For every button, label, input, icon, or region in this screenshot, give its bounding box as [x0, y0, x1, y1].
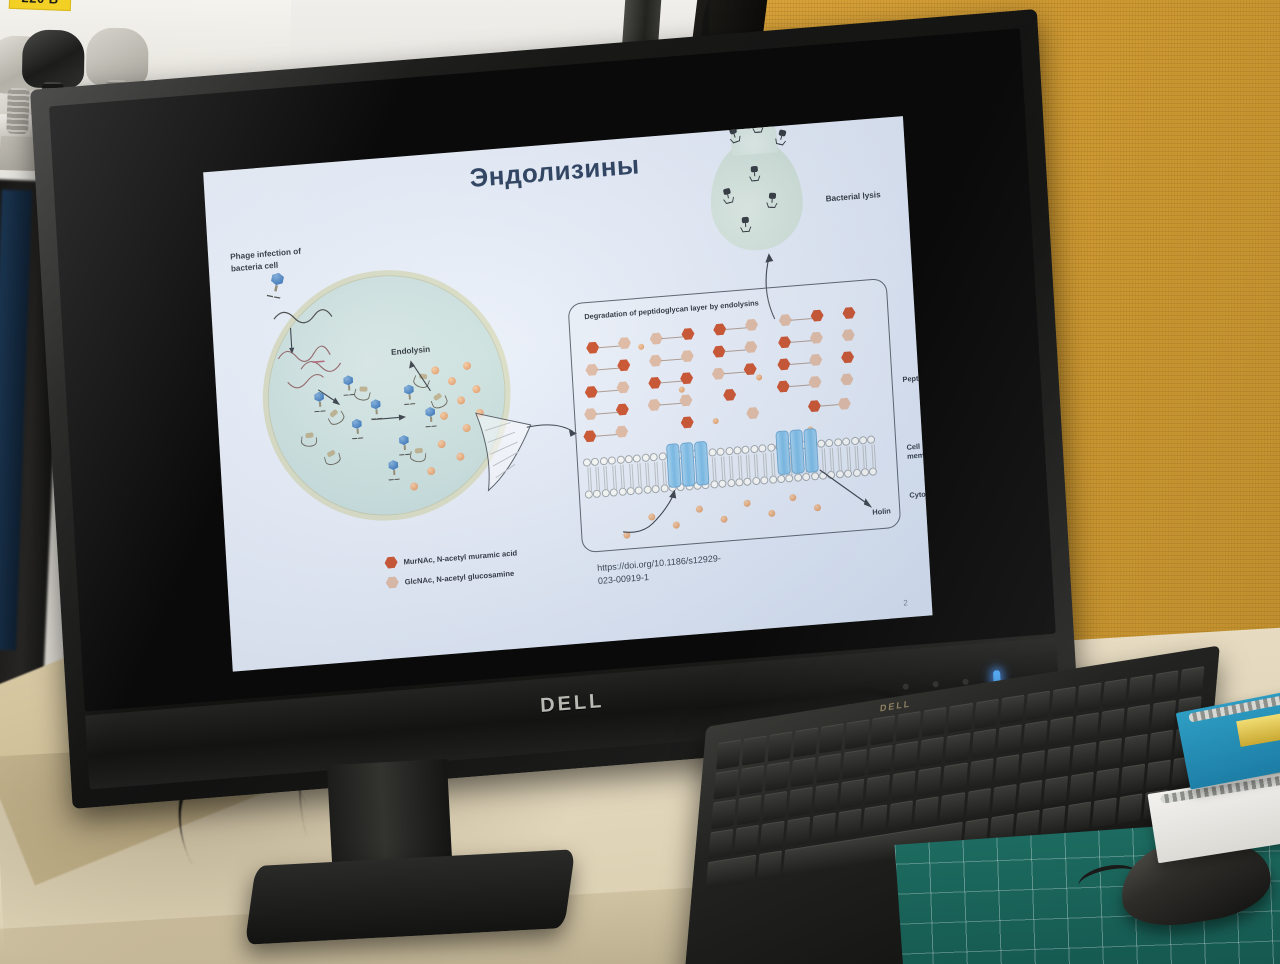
key: [760, 821, 785, 851]
legend-swatch-glcnac: [385, 576, 399, 589]
key: [1123, 734, 1148, 764]
key: [1025, 691, 1050, 721]
key: [785, 817, 810, 847]
key: [708, 829, 733, 859]
key: [791, 757, 816, 787]
key: [991, 784, 1016, 814]
phage-infecting-icon: [266, 271, 287, 296]
key: [1092, 797, 1117, 827]
key: [716, 739, 741, 769]
key: [765, 761, 790, 791]
key: [917, 766, 942, 796]
key: [891, 771, 916, 801]
key: [757, 850, 782, 880]
key: [706, 855, 757, 889]
monitor-brand-logo: DELL: [540, 690, 605, 718]
key: [737, 795, 762, 825]
holin-channel: [680, 442, 696, 487]
key: [971, 729, 996, 759]
holin-flow-arrow: [615, 486, 697, 538]
key: [914, 796, 939, 826]
key: [940, 792, 965, 822]
key: [1094, 768, 1119, 798]
key: [1148, 730, 1173, 760]
key: [842, 749, 867, 779]
key: [1097, 738, 1122, 768]
key: [840, 779, 865, 809]
legend-label-murnac: MurNAc, N-acetyl muramic acid: [403, 548, 517, 566]
endolysin-icon: [353, 385, 371, 401]
phage-icon: [341, 375, 355, 394]
key: [973, 699, 998, 729]
key: [863, 804, 888, 834]
key: [948, 703, 973, 733]
key: [919, 737, 944, 767]
key: [1066, 802, 1091, 832]
key: [1076, 682, 1101, 712]
key: [894, 741, 919, 771]
key: [1117, 793, 1142, 823]
key: [1151, 700, 1176, 730]
legend-item-glcnac: GlcNAc, N-acetyl glucosamine: [385, 567, 514, 589]
holin-channel: [666, 443, 682, 488]
key: [1146, 760, 1171, 790]
osd-button[interactable]: [903, 683, 909, 689]
phage-released-icon: [767, 193, 777, 208]
phage-icon: [397, 435, 411, 454]
key: [1154, 670, 1179, 700]
legend-item-murnac: MurNAc, N-acetyl muramic acid: [384, 546, 517, 569]
endolysin-icon: [301, 432, 317, 446]
holin-channel: [775, 430, 791, 475]
phage-icon: [387, 460, 401, 479]
key: [1017, 780, 1042, 810]
key: [1051, 687, 1076, 717]
keyboard-brand-logo: DELL: [880, 698, 912, 713]
key: [1074, 712, 1099, 742]
key: [1048, 716, 1073, 746]
dell-monitor[interactable]: Эндолизины Phage infection of bacteria c…: [30, 9, 1079, 809]
phage-released-icon: [741, 217, 751, 232]
label-phage-infection-line1: Phage infection of: [230, 247, 301, 263]
key: [1120, 764, 1145, 794]
office-photo-scene: 220 В Эндолизины Phage infection of bact…: [0, 0, 1280, 964]
key: [793, 727, 818, 757]
osd-button[interactable]: [932, 681, 938, 687]
phage-icon: [312, 391, 326, 410]
key: [888, 800, 913, 830]
phage-icon: [369, 399, 383, 418]
key: [734, 825, 759, 855]
key: [1043, 776, 1068, 806]
key: [999, 695, 1024, 725]
key: [1069, 772, 1094, 802]
key: [739, 765, 764, 795]
key: [819, 723, 844, 753]
holin-channel: [789, 429, 805, 474]
key: [711, 799, 736, 829]
key: [865, 775, 890, 805]
key: [1040, 806, 1065, 836]
plug-head: [86, 27, 149, 86]
key: [868, 745, 893, 775]
key: [1045, 746, 1070, 776]
legend-label-glcnac: GlcNAc, N-acetyl glucosamine: [404, 568, 514, 586]
key: [994, 754, 1019, 784]
key: [1071, 742, 1096, 772]
key: [742, 735, 767, 765]
key: [762, 791, 787, 821]
key: [1102, 678, 1127, 708]
key: [1125, 704, 1150, 734]
endolysin-pointer-arrow: [401, 356, 443, 399]
endolysin-icon: [409, 447, 426, 462]
phage-icon: [423, 406, 437, 425]
phage-icon: [350, 418, 364, 437]
key: [837, 808, 862, 838]
osd-button[interactable]: [962, 679, 968, 685]
key: [768, 731, 793, 761]
voltage-label: 220 В: [9, 0, 72, 11]
key: [1099, 708, 1124, 738]
key: [713, 769, 738, 799]
key: [870, 715, 895, 745]
slide-page-number: 2: [903, 598, 908, 607]
key: [942, 762, 967, 792]
key: [945, 733, 970, 763]
key: [966, 788, 991, 818]
key: [1022, 720, 1047, 750]
key: [845, 719, 870, 749]
holin-channel: [803, 428, 819, 473]
plug-head: [22, 29, 85, 88]
doi-reference-link[interactable]: https://doi.org/10.1186/s12929-023-00919…: [597, 551, 738, 588]
label-bacterial-lysis: Bacterial lysis: [825, 190, 881, 205]
key: [896, 711, 921, 741]
label-holin: Holin: [872, 506, 891, 517]
key: [788, 787, 813, 817]
holin-channel: [694, 441, 710, 486]
legend-swatch-murnac: [384, 556, 398, 569]
key: [997, 724, 1022, 754]
key: [1020, 750, 1045, 780]
phage-released-icon: [750, 166, 760, 181]
key: [922, 707, 947, 737]
key: [814, 783, 839, 813]
key: [1128, 674, 1153, 704]
key: [811, 813, 836, 843]
key: [968, 758, 993, 788]
monitor-screen[interactable]: Эндолизины Phage infection of bacteria c…: [203, 116, 932, 672]
presentation-slide: Эндолизины Phage infection of bacteria c…: [203, 116, 932, 672]
key: [816, 753, 841, 783]
key: [1179, 666, 1204, 696]
